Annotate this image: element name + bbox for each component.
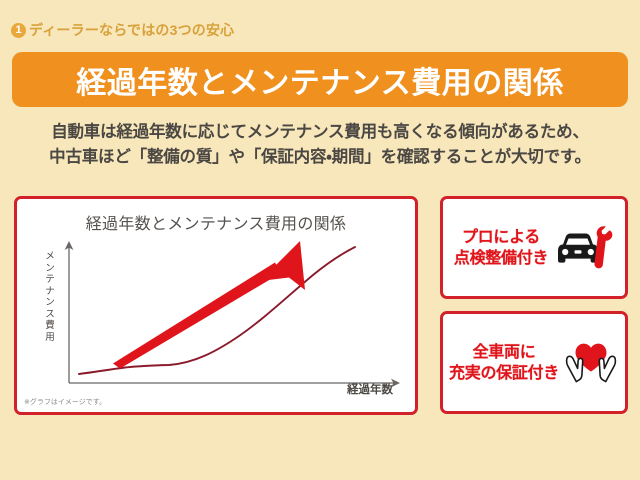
chart-card: 経過年数とメンテナンス費用の関係 メンテナンス費用 経過年数 ※グラフはイメージ…	[14, 196, 418, 415]
lead-line-1: 自動車は経過年数に応じてメンテナンス費用も高くなる傾向があるため、	[0, 120, 640, 145]
right-hand-icon	[599, 356, 615, 381]
chart-y-axis	[65, 241, 74, 383]
heart-in-hands-icon	[563, 339, 619, 387]
chart-title: 経過年数とメンテナンス費用の関係	[17, 210, 415, 234]
feature-card-warranty-line-1: 全車両に	[473, 344, 536, 361]
car-icon	[558, 233, 598, 262]
feature-card-inspection: プロによる 点検整備付き	[440, 196, 628, 299]
section-header-label: ディーラーならではの3つの安心	[29, 20, 234, 40]
chart-growth-arrow	[113, 241, 305, 369]
chart-footnote: ※グラフはイメージです。	[24, 397, 106, 407]
chart-plot	[17, 233, 415, 388]
feature-card-warranty: 全車両に 充実の保証付き	[440, 311, 628, 414]
feature-card-inspection-text: プロによる 点検整備付き	[454, 227, 548, 269]
banner-title: 経過年数とメンテナンス費用の関係	[76, 58, 563, 102]
lead-paragraph: 自動車は経過年数に応じてメンテナンス費用も高くなる傾向があるため、 中古車ほど「…	[0, 120, 640, 170]
wrench-icon	[595, 226, 613, 268]
car-wrench-icon	[552, 225, 614, 271]
chart-x-axis	[69, 379, 400, 388]
lead-line-2: 中古車ほど「整備の質」や「保証内容・期間」を確認することが大切です。	[0, 145, 640, 170]
banner: 経過年数とメンテナンス費用の関係	[12, 52, 628, 107]
feature-card-warranty-text: 全車両に 充実の保証付き	[449, 342, 559, 384]
section-header: 1 ディーラーならではの3つの安心	[11, 20, 234, 40]
feature-card-warranty-line-2: 充実の保証付き	[449, 365, 559, 382]
circled-number-icon: 1	[11, 23, 26, 38]
feature-card-inspection-line-1: プロによる	[462, 229, 540, 246]
feature-card-inspection-line-2: 点検整備付き	[454, 250, 548, 267]
left-hand-icon	[567, 356, 583, 381]
